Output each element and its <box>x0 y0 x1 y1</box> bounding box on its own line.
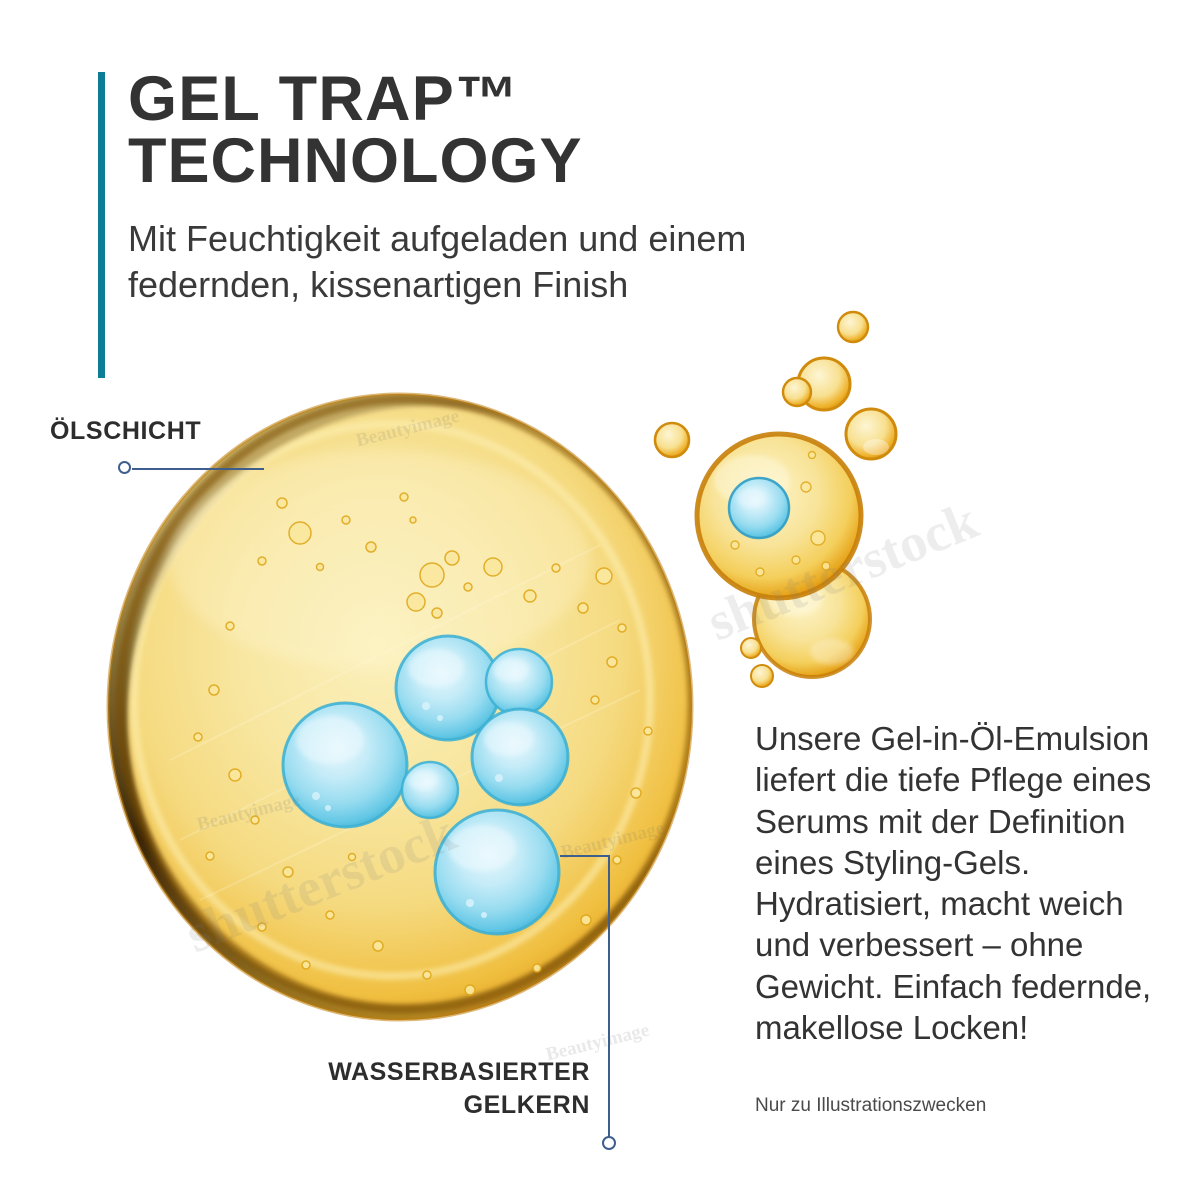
infographic-canvas: Beautyimage Beautyimage Beautyimage Beau… <box>0 0 1200 1200</box>
page-title: GEL TRAP™ TECHNOLOGY <box>128 68 768 193</box>
leader-segment <box>132 468 264 470</box>
title-line-1: GEL TRAP™ <box>128 64 519 134</box>
leader-segment-horizontal <box>560 855 609 857</box>
callout-label-gel-core: WASSERBASIERTER GELKERN <box>230 1056 590 1122</box>
leader-dot-icon <box>118 461 131 474</box>
title-line-2: TECHNOLOGY <box>128 130 768 192</box>
gel-core-label-line-1: WASSERBASIERTER <box>328 1058 590 1086</box>
leader-line-gel-core <box>560 855 630 1155</box>
page-subtitle: Mit Feuchtigkeit aufgeladen und einem fe… <box>128 216 768 308</box>
leader-line-oil-layer <box>118 459 264 479</box>
leader-segment-vertical <box>608 855 610 1137</box>
body-paragraph: Unsere Gel-in-Öl-Emulsion liefert die ti… <box>755 718 1160 1048</box>
satellite-droplets <box>655 312 896 687</box>
leader-dot-icon <box>602 1136 616 1150</box>
callout-label-oil-layer: ÖLSCHICHT <box>50 417 201 446</box>
disclaimer-text: Nur zu Illustrationszwecken <box>755 1095 1175 1117</box>
accent-bar <box>98 72 105 378</box>
